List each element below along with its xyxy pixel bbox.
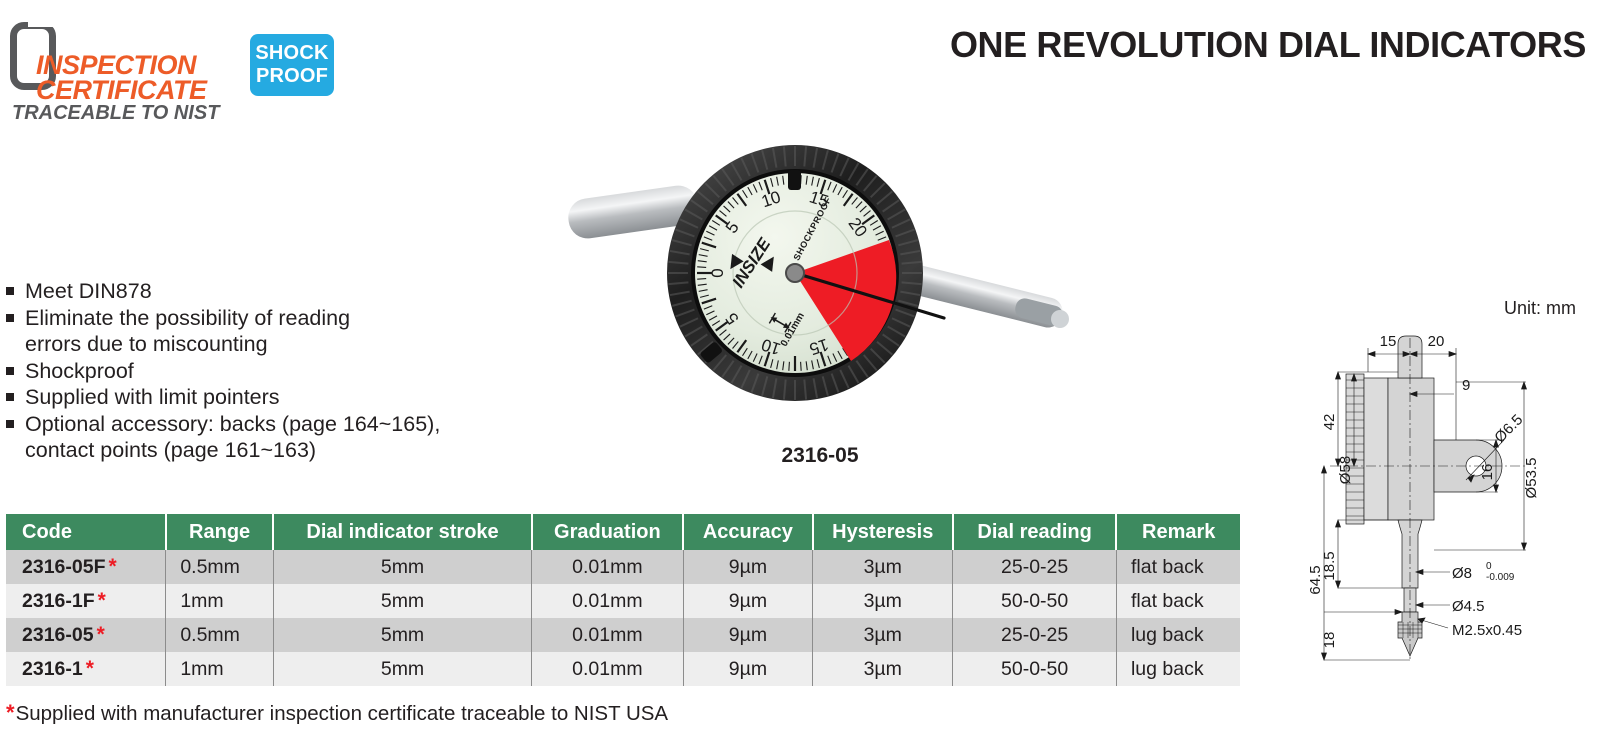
dial-number: 0 bbox=[708, 268, 727, 277]
table-cell-graduation: 0.01mm bbox=[532, 550, 683, 584]
product-code: 2316-05F bbox=[22, 556, 105, 578]
table-column-header: Code bbox=[6, 514, 166, 550]
table-cell-accuracy: 9µm bbox=[683, 550, 813, 584]
table-cell-remark: flat back bbox=[1116, 584, 1240, 618]
table-cell-code: 2316-1F* bbox=[6, 584, 166, 618]
feature-item: Shockproof bbox=[6, 358, 526, 385]
feature-item: errors due to miscounting bbox=[6, 331, 526, 358]
table-row: 2316-1*1mm5mm0.01mm9µm3µm50-0-50lug back bbox=[6, 652, 1240, 686]
table-cell-hysteresis: 3µm bbox=[813, 618, 953, 652]
table-cell-stroke: 5mm bbox=[273, 652, 531, 686]
table-cell-accuracy: 9µm bbox=[683, 652, 813, 686]
unit-label: Unit: mm bbox=[1504, 298, 1576, 319]
shock-badge-line-2: PROOF bbox=[250, 65, 334, 88]
table-row: 2316-05F*0.5mm5mm0.01mm9µm3µm25-0-25flat… bbox=[6, 550, 1240, 584]
table-cell-range: 0.5mm bbox=[166, 550, 274, 584]
dim-16: 16 bbox=[1479, 464, 1496, 481]
table-cell-dial_reading: 25-0-25 bbox=[953, 618, 1117, 652]
limit-pointer-top bbox=[788, 170, 801, 190]
table-cell-accuracy: 9µm bbox=[683, 618, 813, 652]
feature-list: Meet DIN878Eliminate the possibility of … bbox=[6, 278, 526, 464]
table-column-header: Remark bbox=[1116, 514, 1240, 550]
feature-item: contact points (page 161~163) bbox=[6, 437, 526, 464]
bullet-square-icon bbox=[6, 393, 14, 401]
bullet-square-icon bbox=[6, 314, 14, 322]
table-cell-graduation: 0.01mm bbox=[532, 652, 683, 686]
table-cell-code: 2316-05* bbox=[6, 618, 166, 652]
shock-badge-line-1: SHOCK bbox=[250, 42, 334, 65]
table-column-header: Dial reading bbox=[953, 514, 1117, 550]
dim-tol-upper: 0 bbox=[1486, 561, 1492, 572]
table-cell-remark: lug back bbox=[1116, 618, 1240, 652]
page-title: ONE REVOLUTION DIAL INDICATORS bbox=[950, 24, 1586, 66]
certificate-star-icon: * bbox=[97, 623, 105, 646]
dial-indicator-illustration: 0510152025510152025 INSIZE ◀ ▶ SHOCKPROO… bbox=[560, 118, 1080, 428]
dim-tol-lower: -0.009 bbox=[1486, 572, 1515, 583]
feature-text: Supplied with limit pointers bbox=[25, 384, 526, 411]
dim-42: 42 bbox=[1321, 414, 1338, 431]
dim-20: 20 bbox=[1428, 333, 1445, 350]
table-cell-stroke: 5mm bbox=[273, 618, 531, 652]
table-body: 2316-05F*0.5mm5mm0.01mm9µm3µm25-0-25flat… bbox=[6, 550, 1240, 686]
needle-hub bbox=[786, 264, 804, 282]
table-column-header: Graduation bbox=[532, 514, 683, 550]
table-column-header: Accuracy bbox=[683, 514, 813, 550]
feature-text: Eliminate the possibility of reading bbox=[25, 305, 526, 332]
table-header: CodeRangeDial indicator strokeGraduation… bbox=[6, 514, 1240, 550]
table-cell-hysteresis: 3µm bbox=[813, 584, 953, 618]
certificate-star-icon: * bbox=[108, 555, 116, 578]
footnote-star-icon: * bbox=[6, 700, 15, 725]
bullet-square-icon bbox=[6, 420, 14, 428]
case-body bbox=[1388, 378, 1434, 520]
product-code: 2316-05 bbox=[22, 624, 94, 646]
dim-15: 15 bbox=[1380, 333, 1397, 350]
table-cell-dial_reading: 50-0-50 bbox=[953, 584, 1117, 618]
bullet-square-icon bbox=[6, 367, 14, 375]
table-column-header: Hysteresis bbox=[813, 514, 953, 550]
table-cell-remark: lug back bbox=[1116, 652, 1240, 686]
product-code: 2316-1F bbox=[22, 590, 95, 612]
feature-text: contact points (page 161~163) bbox=[25, 437, 526, 464]
feature-item: Optional accessory: backs (page 164~165)… bbox=[6, 411, 526, 438]
table-cell-remark: flat back bbox=[1116, 550, 1240, 584]
bullet-square-icon bbox=[6, 287, 14, 295]
dim-18: 18 bbox=[1321, 632, 1338, 649]
table-cell-stroke: 5mm bbox=[273, 584, 531, 618]
table-cell-range: 0.5mm bbox=[166, 618, 274, 652]
table-cell-range: 1mm bbox=[166, 584, 274, 618]
technical-drawing: 15 20 9 42 Ø58 64.5 18.5 18 Ø6.5 16 Ø53.… bbox=[1290, 322, 1600, 712]
feature-item: Eliminate the possibility of reading bbox=[6, 305, 526, 332]
shock-proof-badge: SHOCK PROOF bbox=[250, 34, 334, 96]
table-cell-dial_reading: 50-0-50 bbox=[953, 652, 1117, 686]
table-cell-hysteresis: 3µm bbox=[813, 652, 953, 686]
table-cell-code: 2316-1* bbox=[6, 652, 166, 686]
certificate-line-3: TRACEABLE TO NIST bbox=[12, 102, 219, 125]
table-column-header: Range bbox=[166, 514, 274, 550]
case-outline bbox=[1364, 378, 1388, 520]
product-code: 2316-1 bbox=[22, 658, 83, 680]
table-cell-hysteresis: 3µm bbox=[813, 550, 953, 584]
table-cell-range: 1mm bbox=[166, 652, 274, 686]
dim-dia-58: Ø58 bbox=[1337, 456, 1354, 484]
table-cell-graduation: 0.01mm bbox=[532, 618, 683, 652]
feature-text: Shockproof bbox=[25, 358, 526, 385]
table-cell-dial_reading: 25-0-25 bbox=[953, 550, 1117, 584]
feature-text: errors due to miscounting bbox=[25, 331, 526, 358]
table-header-row: CodeRangeDial indicator strokeGraduation… bbox=[6, 514, 1240, 550]
feature-text: Optional accessory: backs (page 164~165)… bbox=[25, 411, 526, 438]
inspection-certificate-badge: INSPECTION CERTIFICATE TRACEABLE TO NIST bbox=[8, 18, 238, 118]
table-row: 2316-1F*1mm5mm0.01mm9µm3µm50-0-50flat ba… bbox=[6, 584, 1240, 618]
feature-item: Meet DIN878 bbox=[6, 278, 526, 305]
dim-dia-53-5: Ø53.5 bbox=[1523, 458, 1540, 499]
certificate-star-icon: * bbox=[86, 657, 94, 680]
table-column-header: Dial indicator stroke bbox=[273, 514, 531, 550]
certificate-bracket-notch bbox=[28, 15, 62, 27]
product-photo-caption: 2316-05 bbox=[560, 444, 1080, 468]
specifications-table: CodeRangeDial indicator strokeGraduation… bbox=[6, 514, 1240, 686]
table-cell-code: 2316-05F* bbox=[6, 550, 166, 584]
product-photo: 0510152025510152025 INSIZE ◀ ▶ SHOCKPROO… bbox=[560, 118, 1080, 428]
table-footnote: *Supplied with manufacturer inspection c… bbox=[6, 702, 668, 726]
feature-text: Meet DIN878 bbox=[25, 278, 526, 305]
certificate-star-icon: * bbox=[98, 589, 106, 612]
table-cell-accuracy: 9µm bbox=[683, 584, 813, 618]
dim-dia-8: Ø8 bbox=[1452, 565, 1472, 582]
footnote-text: Supplied with manufacturer inspection ce… bbox=[16, 702, 669, 725]
dim-18-5: 18.5 bbox=[1321, 551, 1338, 580]
feature-item: Supplied with limit pointers bbox=[6, 384, 526, 411]
dim-dia-4-5: Ø4.5 bbox=[1452, 598, 1485, 615]
bezel-outline bbox=[1346, 374, 1364, 524]
table-row: 2316-05*0.5mm5mm0.01mm9µm3µm25-0-25lug b… bbox=[6, 618, 1240, 652]
dimension-drawing: 15 20 9 42 Ø58 64.5 18.5 18 Ø6.5 16 Ø53.… bbox=[1290, 322, 1600, 712]
table-cell-stroke: 5mm bbox=[273, 550, 531, 584]
table-cell-graduation: 0.01mm bbox=[532, 584, 683, 618]
dim-thread: M2.5x0.45 bbox=[1452, 622, 1522, 639]
dim-9: 9 bbox=[1462, 377, 1470, 394]
